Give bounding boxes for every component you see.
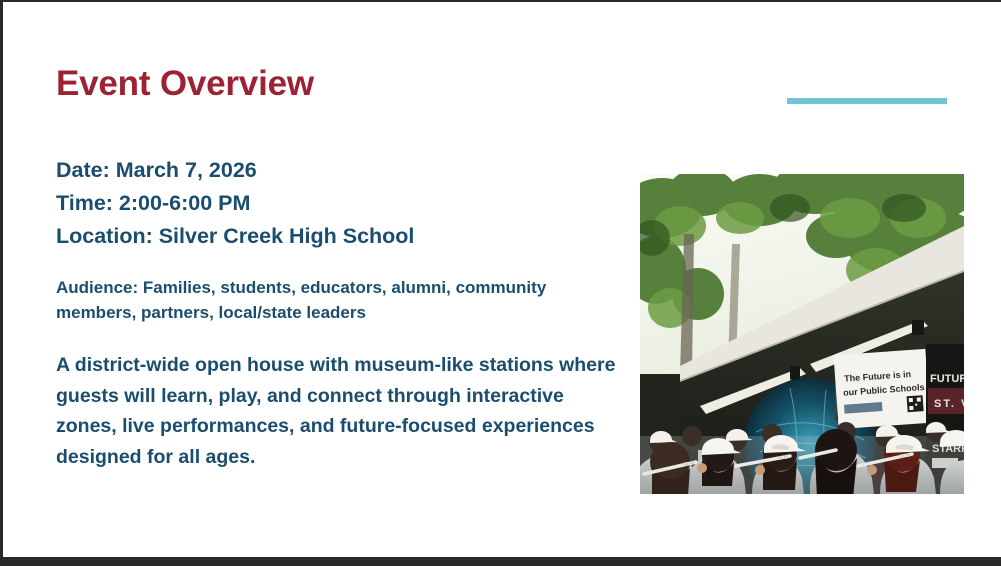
detail-line-time: Time: 2:00-6:00 PM	[56, 187, 616, 220]
event-photo: The Future is in our Public Schools	[640, 174, 964, 494]
text-column: Date: March 7, 2026 Time: 2:00-6:00 PM L…	[56, 154, 616, 472]
svg-text:FUTURE: FUTURE	[930, 373, 964, 385]
svg-text:ST. V: ST. V	[934, 398, 964, 410]
detail-line-date: Date: March 7, 2026	[56, 154, 616, 187]
slide: Event Overview Date: March 7, 2026 Time:…	[0, 0, 1001, 566]
audience-text: Audience: Families, students, educators,…	[56, 275, 601, 325]
page-title: Event Overview	[56, 64, 314, 104]
accent-rule	[787, 98, 947, 104]
detail-line-location: Location: Silver Creek High School	[56, 220, 616, 253]
description-text: A district-wide open house with museum-l…	[56, 350, 616, 472]
